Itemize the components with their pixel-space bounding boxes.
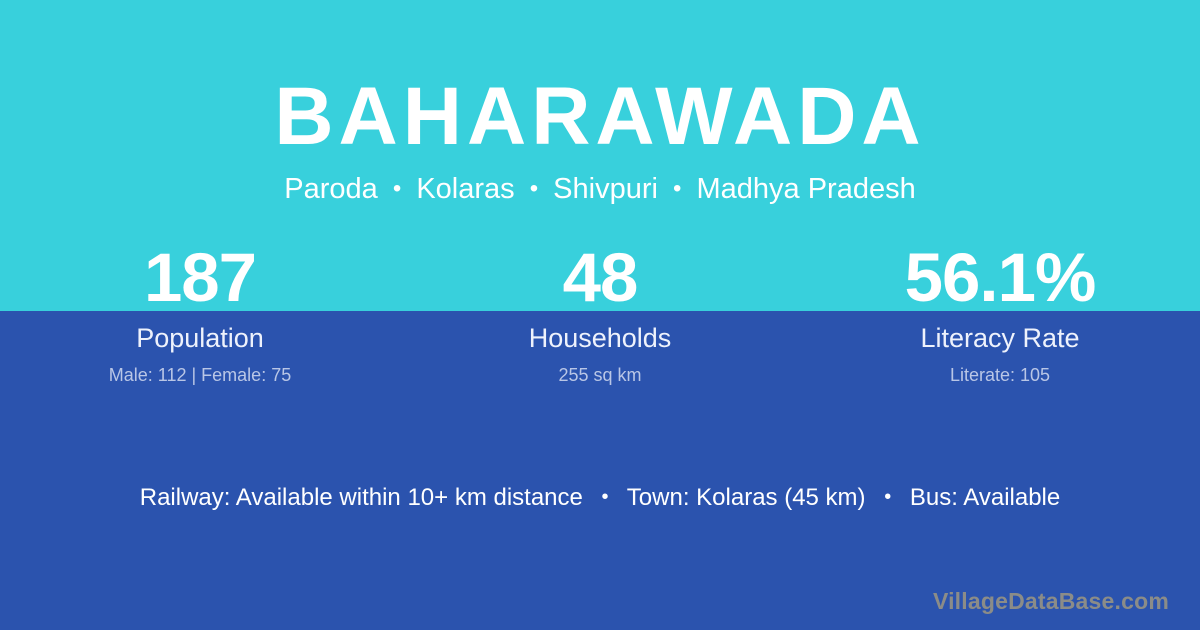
- stat-sublabel: Literate: 105: [800, 366, 1200, 386]
- site-brand-watermark: VillageDataBase.com: [933, 589, 1169, 614]
- amenities-line: Railway: Available within 10+ km distanc…: [0, 483, 1200, 513]
- amenity-bus: Bus: Available: [910, 484, 1060, 511]
- stat-sublabel: Male: 112 | Female: 75: [0, 366, 400, 386]
- stat-value: 48: [400, 243, 800, 311]
- breadcrumb-item-state: Madhya Pradesh: [696, 173, 915, 205]
- amenity-town: Town: Kolaras (45 km): [627, 484, 866, 511]
- bullet-separator-icon: •: [386, 175, 408, 204]
- stat-value: 56.1%: [800, 243, 1200, 311]
- breadcrumb-item-village: Paroda: [284, 173, 378, 205]
- bullet-separator-icon: •: [666, 175, 688, 204]
- page-title: BAHARAWADA: [0, 0, 1200, 157]
- breadcrumb-item-district: Shivpuri: [553, 173, 658, 205]
- amenity-railway: Railway: Available within 10+ km distanc…: [140, 484, 583, 511]
- stat-label: Literacy Rate: [800, 324, 1200, 354]
- bullet-separator-icon: •: [872, 485, 903, 510]
- stat-population: 187 Population Male: 112 | Female: 75: [0, 243, 400, 385]
- bullet-separator-icon: •: [523, 175, 545, 204]
- stat-label: Households: [400, 324, 800, 354]
- stat-sublabel: 255 sq km: [400, 366, 800, 386]
- breadcrumb: Paroda • Kolaras • Shivpuri • Madhya Pra…: [0, 157, 1200, 207]
- stat-value: 187: [0, 243, 400, 311]
- stat-households: 48 Households 255 sq km: [400, 243, 800, 385]
- breadcrumb-item-block: Kolaras: [416, 173, 514, 205]
- village-info-card: BAHARAWADA Paroda • Kolaras • Shivpuri •…: [0, 0, 1200, 630]
- stat-label: Population: [0, 324, 400, 354]
- bullet-separator-icon: •: [590, 485, 621, 510]
- card-header: BAHARAWADA Paroda • Kolaras • Shivpuri •…: [0, 0, 1200, 207]
- stats-row: 187 Population Male: 112 | Female: 75 48…: [0, 243, 1200, 385]
- stat-literacy-rate: 56.1% Literacy Rate Literate: 105: [800, 243, 1200, 385]
